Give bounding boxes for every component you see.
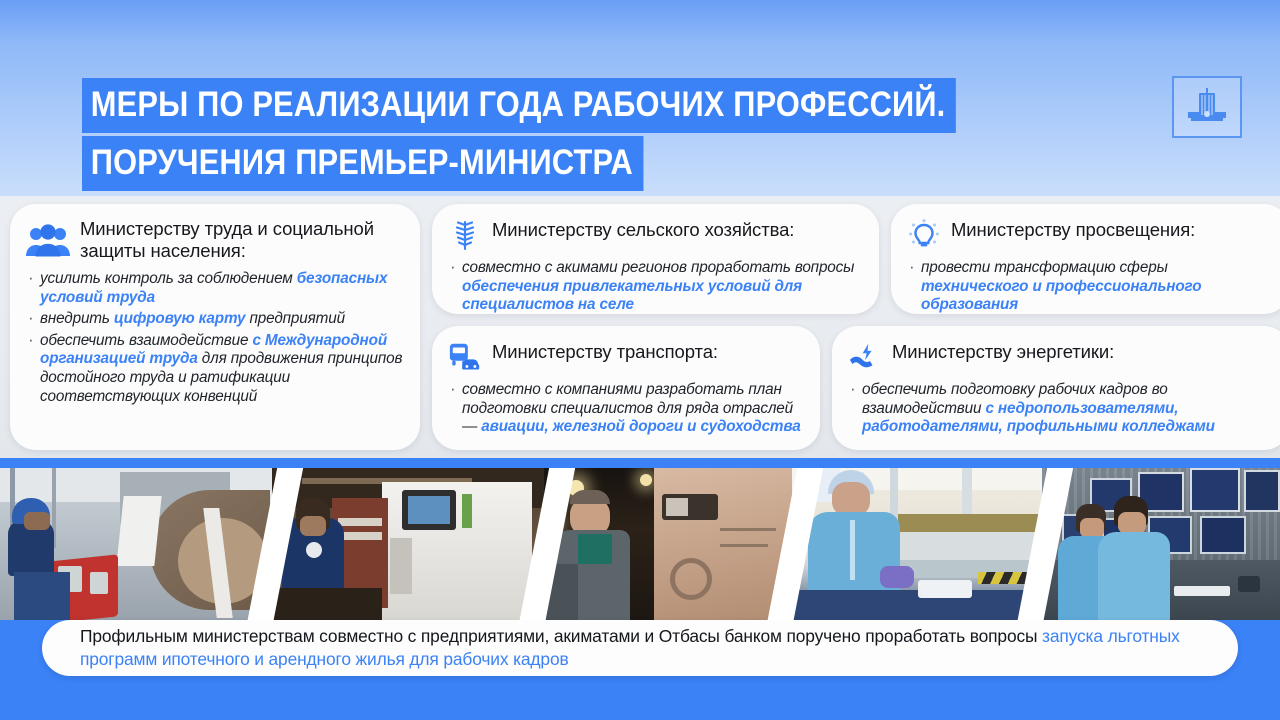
card-ministry-of-energy[interactable]: Министерству энергетики: обеспечить подг…	[832, 326, 1280, 450]
card-ministry-of-agriculture[interactable]: Министерству сельского хозяйства: совмес…	[432, 204, 879, 314]
card-bullet-list: провести трансформацию сферы техническог…	[907, 259, 1274, 315]
plain-text: внедрить	[40, 310, 114, 327]
plain-text: усилить контроль за соблюдением	[40, 270, 297, 287]
card-bullet-list: усилить контроль за соблюдением безопасн…	[26, 270, 404, 406]
bullet-item: совместно с компаниями разработать план …	[448, 381, 804, 437]
bullet-item: обеспечить подготовку рабочих кадров во …	[848, 381, 1274, 437]
photo-worker-blue-helmet-control-panel	[0, 468, 272, 620]
bullet-item: провести трансформацию сферы техническог…	[907, 259, 1274, 315]
photo-strip	[0, 468, 1280, 620]
card-header: Министерству труда и социальной защиты н…	[26, 218, 404, 261]
card-header: Министерству транспорта:	[448, 340, 804, 374]
energy-bolt-icon	[848, 340, 882, 374]
page-title-line-2: Поручения Премьер-Министра	[82, 136, 643, 191]
wheat-icon	[448, 218, 482, 252]
card-title: Министерству труда и социальной защиты н…	[80, 218, 404, 261]
plain-text: совместно с акимами регионов проработать…	[462, 259, 854, 276]
page-title-line-1: Меры по реализации года рабочих професси…	[82, 78, 956, 133]
bullet-item: усилить контроль за соблюдением безопасн…	[26, 270, 404, 307]
lightbulb-icon	[907, 218, 941, 252]
photo-worker-cnc-machine	[272, 468, 544, 620]
bullet-item: совместно с акимами регионов проработать…	[448, 259, 863, 315]
photo-worker-engine-inspection	[544, 468, 792, 620]
bottom-banner-text: Профильным министерствам совместно с пре…	[80, 625, 1200, 671]
card-title: Министерству энергетики:	[892, 340, 1114, 363]
card-ministry-of-labor[interactable]: Министерству труда и социальной защиты н…	[10, 204, 420, 450]
card-header: Министерству энергетики:	[848, 340, 1274, 374]
header: Меры по реализации года рабочих професси…	[0, 0, 1280, 196]
government-building-emblem	[1172, 76, 1242, 138]
card-bullet-list: совместно с акимами регионов проработать…	[448, 259, 863, 315]
card-ministry-of-education[interactable]: Министерству просвещения: провести транс…	[891, 204, 1280, 314]
card-bullet-list: совместно с компаниями разработать план …	[448, 381, 804, 437]
bullet-item: обеспечить взаимодействие с Международно…	[26, 332, 404, 406]
infographic-root: Меры по реализации года рабочих професси…	[0, 0, 1280, 720]
ministries-panel: Министерству труда и социальной защиты н…	[0, 196, 1280, 458]
plain-text: провести трансформацию сферы	[921, 259, 1168, 276]
page-title: Меры по реализации года рабочих професси…	[82, 78, 1075, 191]
people-group-icon	[26, 220, 70, 260]
highlighted-text: авиации, железной дороги и судоходства	[481, 418, 800, 435]
card-ministry-of-transport[interactable]: Министерству транспорта: совместно с ком…	[432, 326, 820, 450]
card-title: Министерству сельского хозяйства:	[492, 218, 794, 241]
photo-control-room-operators	[1042, 468, 1280, 620]
plain-text: предприятий	[245, 310, 345, 327]
card-header: Министерству просвещения:	[907, 218, 1274, 252]
highlighted-text: обеспечения привлекательных условий для …	[462, 278, 802, 314]
card-bullet-list: обеспечить подготовку рабочих кадров во …	[848, 381, 1274, 437]
plain-text: обеспечить взаимодействие	[40, 332, 252, 349]
card-title: Министерству просвещения:	[951, 218, 1195, 241]
highlighted-text: технического и профессионального образов…	[921, 278, 1201, 314]
bullet-item: внедрить цифровую карту предприятий	[26, 310, 404, 329]
photo-food-lab-technician	[792, 468, 1042, 620]
highlighted-text: цифровую карту	[114, 310, 246, 327]
card-header: Министерству сельского хозяйства:	[448, 218, 863, 252]
bottom-banner: Профильным министерствам совместно с пре…	[42, 620, 1238, 676]
plain-text: Профильным министерствам совместно с пре…	[80, 626, 1042, 646]
card-title: Министерству транспорта:	[492, 340, 718, 363]
bus-car-icon	[448, 340, 482, 374]
